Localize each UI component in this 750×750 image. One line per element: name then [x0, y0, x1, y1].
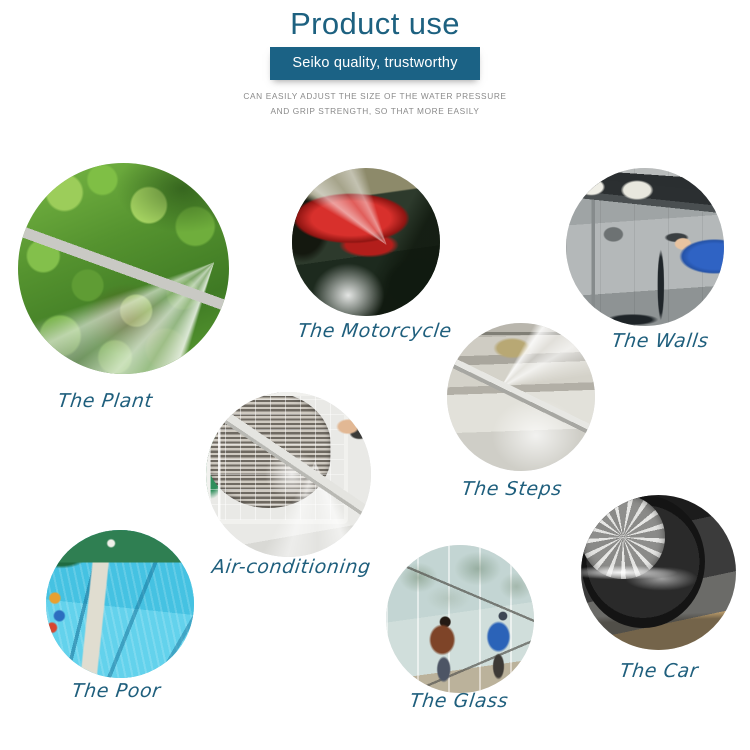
tile-air-conditioning — [206, 392, 371, 557]
header-block: Product use Seiko quality, trustworthy C… — [0, 0, 750, 150]
plant-nozzle-icon — [18, 163, 229, 374]
tile-pool — [46, 530, 194, 678]
subtitle-line-1: CAN EASILY ADJUST THE SIZE OF THE WATER … — [0, 89, 750, 104]
photo-walls — [566, 168, 724, 326]
photo-plant — [18, 163, 229, 374]
tile-steps — [447, 323, 595, 471]
caption-plant: The Plant — [57, 390, 154, 412]
ac-hand-layer — [206, 392, 371, 557]
walls-worker-arm — [566, 168, 724, 326]
motorcycle-water-spray — [292, 168, 440, 316]
subtitle-line-2: AND GRIP STRENGTH, SO THAT MORE EASILY — [0, 104, 750, 119]
caption-air-conditioning: Air-conditioning — [211, 556, 372, 578]
steps-lance-icon — [447, 323, 595, 471]
tile-walls — [566, 168, 724, 326]
photo-motorcycle — [292, 168, 440, 316]
photo-car — [581, 495, 736, 650]
tagline-badge: Seiko quality, trustworthy — [270, 47, 479, 80]
subtitle-block: CAN EASILY ADJUST THE SIZE OF THE WATER … — [0, 89, 750, 118]
tile-motorcycle — [292, 168, 440, 316]
pool-poolside-objects — [46, 530, 194, 678]
glass-worker-blue-jacket — [386, 545, 534, 693]
photo-pool — [46, 530, 194, 678]
photo-air-conditioning — [206, 392, 371, 557]
car-water-jet — [581, 495, 736, 650]
page-title: Product use — [0, 5, 750, 43]
tile-plant — [18, 163, 229, 374]
photo-glass — [386, 545, 534, 693]
caption-motorcycle: The Motorcycle — [297, 320, 453, 342]
caption-steps: The Steps — [461, 478, 564, 500]
caption-walls: The Walls — [611, 330, 710, 352]
tile-glass — [386, 545, 534, 693]
tile-car — [581, 495, 736, 650]
caption-car: The Car — [619, 660, 700, 682]
caption-pool: The Poor — [71, 680, 162, 702]
caption-glass: The Glass — [409, 690, 510, 712]
photo-steps — [447, 323, 595, 471]
